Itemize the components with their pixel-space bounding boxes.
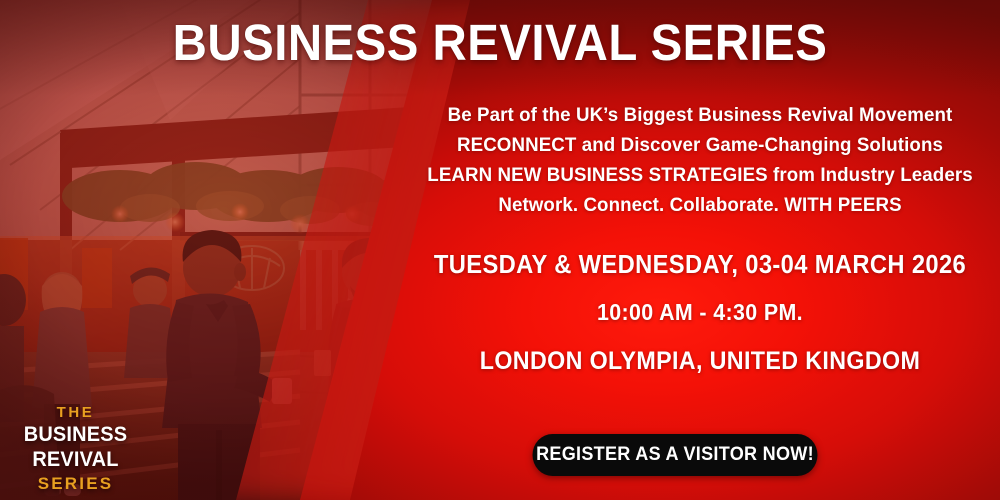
logo-revival-text: REVIVAL: [11, 447, 139, 472]
tagline-line-4: Network. Connect. Collaborate. WITH PEER…: [422, 190, 979, 220]
event-venue: LONDON OLYMPIA, UNITED KINGDOM: [430, 344, 969, 378]
content-column: Be Part of the UK’s Biggest Business Rev…: [410, 100, 990, 378]
event-time: 10:00 AM - 4:30 PM.: [430, 296, 969, 328]
logo-the-text: THE: [8, 404, 143, 422]
tagline-line-1: Be Part of the UK’s Biggest Business Rev…: [422, 100, 979, 130]
event-promo-banner: BUSINESS REVIVAL SERIES Be Part of the U…: [0, 0, 1000, 500]
tagline-list: Be Part of the UK’s Biggest Business Rev…: [410, 100, 990, 220]
page-title: BUSINESS REVIVAL SERIES: [35, 16, 965, 70]
logo-series-text: SERIES: [8, 473, 143, 495]
tagline-line-3: LEARN NEW BUSINESS STRATEGIES from Indus…: [422, 160, 979, 190]
logo-business-text: BUSINESS: [11, 422, 139, 447]
register-button[interactable]: REGISTER AS A VISITOR NOW!: [533, 434, 818, 476]
tagline-line-2: RECONNECT and Discover Game-Changing Sol…: [422, 130, 979, 160]
cta-container: REGISTER AS A VISITOR NOW!: [525, 434, 825, 476]
brand-logo: THE BUSINESS REVIVAL SERIES: [8, 404, 143, 495]
event-date: TUESDAY & WEDNESDAY, 03-04 MARCH 2026: [430, 248, 969, 282]
event-details: TUESDAY & WEDNESDAY, 03-04 MARCH 2026 10…: [410, 248, 990, 378]
